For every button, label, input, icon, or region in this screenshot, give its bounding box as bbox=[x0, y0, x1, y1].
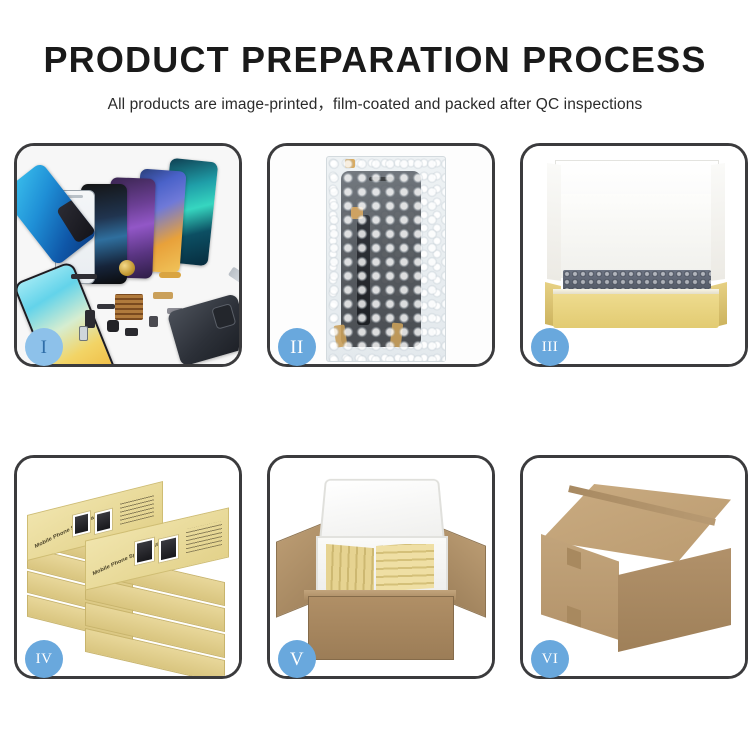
page-subtitle: All products are image-printed，film-coat… bbox=[0, 80, 750, 114]
speaker-module-icon bbox=[119, 260, 135, 276]
flex-cable-2 bbox=[159, 272, 181, 278]
step-5-badge: V bbox=[278, 640, 316, 678]
carton-front-face bbox=[308, 596, 454, 660]
step-3-badge: III bbox=[531, 328, 569, 366]
step-3-numeral: III bbox=[542, 340, 559, 355]
box-lid-right-flap bbox=[711, 163, 725, 281]
kraft-box-front bbox=[553, 294, 719, 328]
packed-boxes-inside bbox=[326, 544, 434, 592]
process-step-4: Mobile Phone Spare Parts Mobile Phone Sp… bbox=[14, 455, 242, 679]
step-6-badge: VI bbox=[531, 640, 569, 678]
product-preparation-infographic: PRODUCT PREPARATION PROCESS All products… bbox=[0, 0, 750, 750]
step-1-numeral: I bbox=[41, 338, 48, 357]
box-lid-left-flap bbox=[547, 163, 561, 281]
page-title: PRODUCT PREPARATION PROCESS bbox=[0, 0, 750, 80]
step-6-numeral: VI bbox=[542, 652, 559, 667]
stack-box-window-back-2 bbox=[94, 508, 113, 536]
logic-board-chip bbox=[115, 294, 143, 320]
stack-box-text-block-front bbox=[186, 521, 222, 553]
sim-tray bbox=[79, 326, 88, 341]
stack-box-text-block-back bbox=[120, 494, 154, 524]
step-2-badge: II bbox=[278, 328, 316, 366]
step-4-numeral: IV bbox=[36, 652, 53, 667]
foam-lid bbox=[319, 479, 446, 545]
bubble-wrap-pouch bbox=[326, 156, 446, 362]
step-1-badge: I bbox=[25, 328, 63, 366]
stack-box-window-back-1 bbox=[72, 510, 91, 538]
stack-box-window-front-2 bbox=[158, 534, 179, 564]
process-step-2: II bbox=[267, 143, 495, 367]
screen-flex-cable bbox=[357, 215, 370, 325]
flex-cable-4 bbox=[97, 304, 115, 309]
header: PRODUCT PREPARATION PROCESS All products… bbox=[0, 0, 750, 114]
vibrator-motor bbox=[149, 316, 158, 327]
spare-parts-cluster bbox=[67, 258, 239, 358]
white-foam-sheet bbox=[561, 194, 711, 278]
process-step-5: V bbox=[267, 455, 495, 679]
phone-back-housing bbox=[167, 293, 239, 364]
tape-marker-d bbox=[345, 159, 355, 168]
process-step-6: VI bbox=[520, 455, 748, 679]
screen-assembly-inside bbox=[341, 171, 421, 347]
flex-cable-3 bbox=[153, 292, 173, 299]
flex-cable-1 bbox=[71, 274, 97, 279]
process-step-1: I bbox=[14, 143, 242, 367]
camera-module bbox=[107, 320, 119, 332]
connector-part bbox=[125, 328, 138, 336]
step-2-numeral: II bbox=[290, 338, 304, 357]
tape-marker-a bbox=[351, 207, 363, 219]
step-5-numeral: V bbox=[290, 650, 304, 669]
packed-boxes-left-group bbox=[326, 544, 374, 592]
process-step-3: III bbox=[520, 143, 748, 367]
stack-box-window-front-1 bbox=[134, 536, 155, 566]
retail-box-stack: Mobile Phone Spare Parts Mobile Phone Sp… bbox=[23, 480, 235, 664]
process-step-grid: I II bbox=[14, 143, 736, 679]
step-4-badge: IV bbox=[25, 640, 63, 678]
packed-boxes-right-group bbox=[376, 544, 434, 592]
